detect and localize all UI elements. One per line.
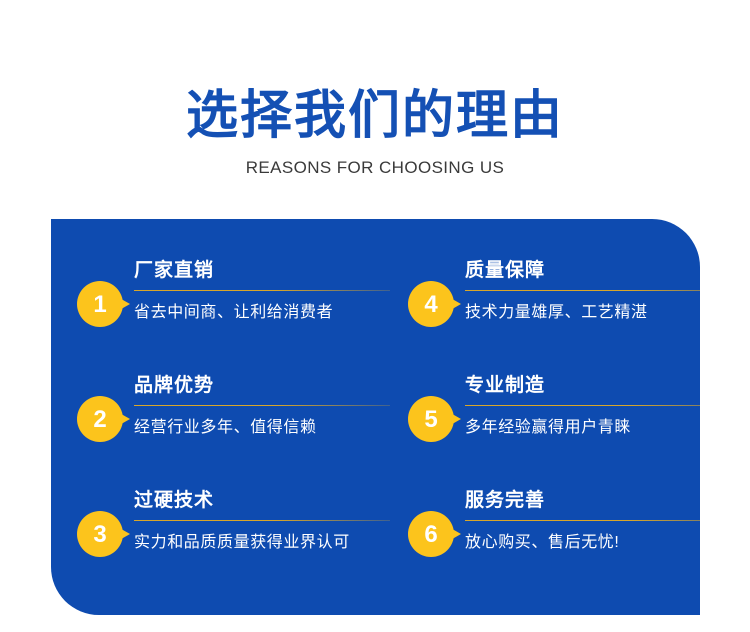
badge-6: 6 [408,511,454,557]
reason-description: 实力和品质质量获得业界认可 [134,521,397,554]
badge-number: 6 [408,511,454,557]
reason-item-2: 2 品牌优势 经营行业多年、值得信赖 [77,372,397,468]
reasons-panel: 1 厂家直销 省去中间商、让利给消费者 2 品牌优势 经营行业多年、值得信 [51,219,700,615]
reason-body-6: 服务完善 放心购买、售后无忧! [465,487,700,554]
reasons-grid: 1 厂家直销 省去中间商、让利给消费者 2 品牌优势 经营行业多年、值得信 [51,219,700,615]
badge-3: 3 [77,511,123,557]
badge-1: 1 [77,281,123,327]
reason-title: 服务完善 [465,487,700,515]
promo-banner: 选择我们的理由 REASONS FOR CHOOSING US 1 厂家直销 省… [0,0,750,632]
reason-item-5: 5 专业制造 多年经验赢得用户青睐 [408,372,700,468]
reason-title: 质量保障 [465,257,700,285]
reason-body-2: 品牌优势 经营行业多年、值得信赖 [134,372,397,439]
reason-title: 专业制造 [465,372,700,400]
badge-number: 5 [408,396,454,442]
reason-description: 多年经验赢得用户青睐 [465,406,700,439]
badge-5: 5 [408,396,454,442]
reason-title: 过硬技术 [134,487,397,515]
reason-item-6: 6 服务完善 放心购买、售后无忧! [408,487,700,583]
reason-body-4: 质量保障 技术力量雄厚、工艺精湛 [465,257,700,324]
badge-number: 4 [408,281,454,327]
badge-4: 4 [408,281,454,327]
reason-body-1: 厂家直销 省去中间商、让利给消费者 [134,257,397,324]
reason-title: 厂家直销 [134,257,397,285]
banner-header: 选择我们的理由 REASONS FOR CHOOSING US [0,0,750,178]
badge-2: 2 [77,396,123,442]
reason-description: 技术力量雄厚、工艺精湛 [465,291,700,324]
badge-number: 2 [77,396,123,442]
reason-body-5: 专业制造 多年经验赢得用户青睐 [465,372,700,439]
reason-description: 省去中间商、让利给消费者 [134,291,397,324]
page-subtitle: REASONS FOR CHOOSING US [0,144,750,178]
reason-description: 经营行业多年、值得信赖 [134,406,397,439]
reason-item-3: 3 过硬技术 实力和品质质量获得业界认可 [77,487,397,583]
reason-item-1: 1 厂家直销 省去中间商、让利给消费者 [77,257,397,353]
reason-title: 品牌优势 [134,372,397,400]
page-title: 选择我们的理由 [0,0,750,144]
reason-description: 放心购买、售后无忧! [465,521,700,554]
badge-number: 1 [77,281,123,327]
badge-number: 3 [77,511,123,557]
reason-body-3: 过硬技术 实力和品质质量获得业界认可 [134,487,397,554]
reason-item-4: 4 质量保障 技术力量雄厚、工艺精湛 [408,257,700,353]
